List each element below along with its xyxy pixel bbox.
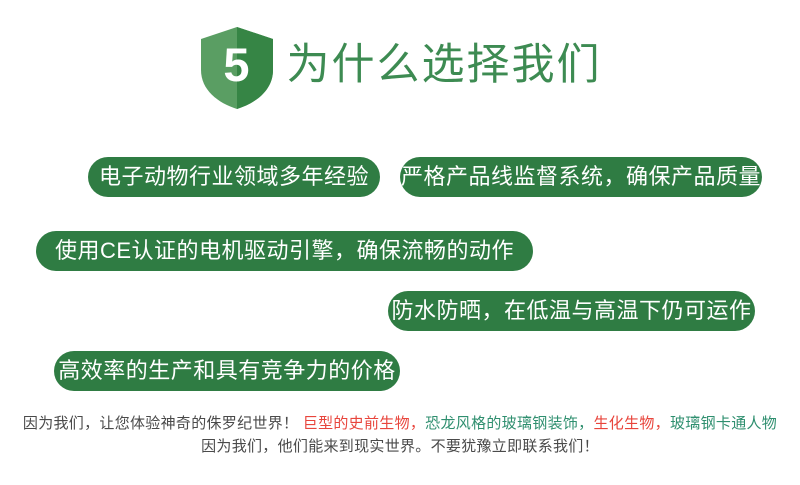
shield-badge: 5 [199, 26, 275, 110]
feature-pill-1: 电子动物行业领域多年经验 [88, 157, 380, 197]
feature-pill-5: 高效率的生产和具有竞争力的价格 [54, 351, 400, 391]
feature-pill-4: 防水防晒，在低温与高温下仍可运作 [388, 291, 755, 331]
footer-line1-highlight-2: 生化生物， [593, 415, 670, 432]
promo-banner: 5 为什么选择我们 电子动物行业领域多年经验 严格产品线监督系统，确保产品质量 … [0, 0, 800, 485]
footer-text: 因为我们，让您体验神奇的侏罗纪世界！ 巨型的史前生物，恐龙风格的玻璃钢装饰，生化… [0, 412, 800, 458]
footer-line1-intro: 因为我们，让您体验神奇的侏罗纪世界！ [23, 415, 303, 432]
footer-line1-accent-2: 玻璃钢卡通人物 [670, 415, 777, 432]
page-title: 为什么选择我们 [287, 44, 602, 93]
footer-line-2: 因为我们，他们能来到现实世界。不要犹豫立即联系我们！ [0, 435, 800, 458]
shield-number: 5 [199, 26, 275, 110]
footer-line-1: 因为我们，让您体验神奇的侏罗纪世界！ 巨型的史前生物，恐龙风格的玻璃钢装饰，生化… [0, 412, 800, 435]
footer-line1-highlight-1: 巨型的史前生物， [303, 415, 425, 432]
header: 5 为什么选择我们 [0, 22, 800, 114]
footer-line1-accent-1: 恐龙风格的玻璃钢装饰， [425, 415, 593, 432]
footer-line2-text: 因为我们，他们能来到现实世界。不要犹豫立即联系我们！ [201, 438, 599, 455]
feature-pill-2: 严格产品线监督系统，确保产品质量 [400, 157, 762, 197]
feature-pill-3: 使用CE认证的电机驱动引擎，确保流畅的动作 [36, 231, 533, 271]
